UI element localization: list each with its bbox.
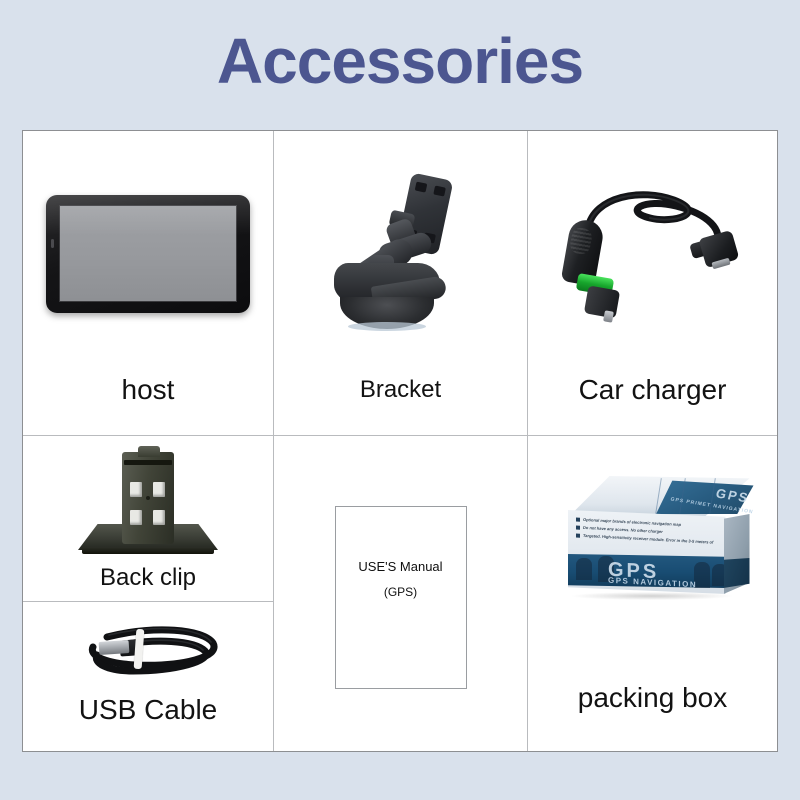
page-title: Accessories (0, 26, 800, 96)
clip-top-cap (138, 446, 160, 457)
clip-base-lip (82, 547, 214, 554)
usb-cable-coil (63, 615, 233, 685)
clip-screw-dot (146, 496, 150, 500)
back-clip-image (23, 444, 273, 560)
grid-cell-manual[interactable]: USE'S Manual (GPS) (274, 436, 527, 751)
suction-cup-mount-icon (326, 168, 476, 333)
usb-cable-image (23, 612, 273, 688)
grid-cell-packing-box[interactable]: GPS GPS PRIMET NAVIGATION Optional major… (528, 436, 777, 751)
box-drop-shadow (572, 592, 732, 600)
bullet-square-icon (576, 533, 580, 537)
usb-connector-metal (99, 640, 130, 655)
box-art-figure (576, 558, 592, 580)
label-host: host (23, 374, 273, 406)
device-screen (59, 205, 237, 302)
grid-cell-car-charger[interactable]: Car charger (528, 131, 777, 435)
label-packing-box: packing box (528, 682, 777, 714)
label-usb-cable: USB Cable (23, 694, 273, 726)
car-charger-icon (558, 178, 748, 318)
bracket-image (274, 155, 527, 345)
grid-cell-bracket[interactable]: Bracket (274, 131, 527, 435)
label-car-charger: Car charger (528, 374, 777, 406)
label-back-clip: Back clip (23, 564, 273, 592)
clip-cross-bar (124, 460, 172, 465)
host-image (23, 169, 273, 339)
packing-box-image: GPS GPS PRIMET NAVIGATION Optional major… (528, 472, 777, 604)
bracket-suction-rim (348, 322, 426, 331)
manual-cover-subtitle: (GPS) (336, 585, 466, 599)
grid-cell-host[interactable]: host (23, 131, 273, 435)
manual-image: USE'S Manual (GPS) (274, 502, 527, 692)
box-side-blue-band (724, 558, 750, 588)
back-clip-mount-icon (78, 446, 218, 558)
user-manual-booklet-icon: USE'S Manual (GPS) (335, 506, 467, 689)
charger-barrel (583, 285, 619, 318)
charger-contact-tip (603, 310, 614, 322)
label-bracket: Bracket (274, 376, 527, 404)
gps-navigator-device-icon (46, 195, 250, 313)
manual-cover-title: USE'S Manual (336, 559, 466, 574)
accessories-grid-panel: host Bracket (22, 130, 778, 752)
bullet-square-icon (576, 517, 580, 521)
bullet-square-icon (576, 525, 580, 529)
accessories-page: Accessories host (0, 0, 800, 800)
product-packaging-box-icon: GPS GPS PRIMET NAVIGATION Optional major… (546, 476, 760, 600)
grid-cell-back-clip[interactable]: Back clip (23, 436, 273, 601)
usb-cable-icon (63, 615, 233, 685)
grid-cell-usb-cable[interactable]: USB Cable (23, 602, 273, 751)
car-charger-image (528, 173, 777, 323)
device-led-icon (51, 239, 54, 248)
